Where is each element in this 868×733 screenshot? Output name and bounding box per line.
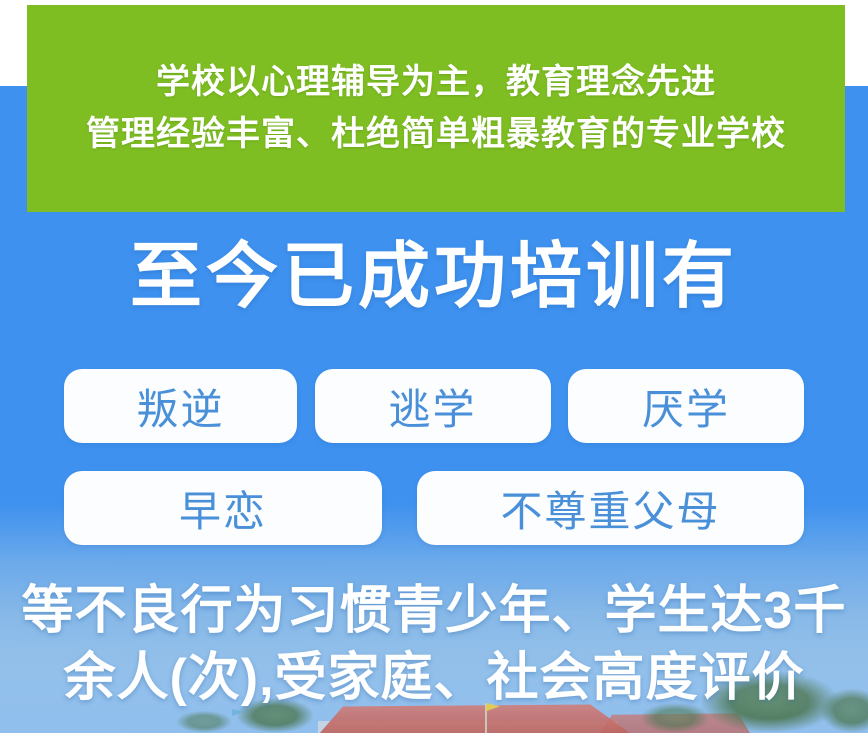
promo-poster: 学校以心理辅导为主，教育理念先进 管理经验丰富、杜绝简单粗暴教育的专业学校 至今… — [0, 0, 868, 733]
behavior-tag-row-2: 早恋 不尊重父母 — [64, 471, 804, 545]
banner-line-1: 学校以心理辅导为主，教育理念先进 — [156, 57, 716, 109]
summary-line-2: 余人(次),受家庭、社会高度评价 — [0, 645, 868, 712]
behavior-tag-disrespect-parents[interactable]: 不尊重父母 — [417, 471, 804, 545]
behavior-tag-rebellious[interactable]: 叛逆 — [64, 369, 297, 443]
summary-paragraph: 等不良行为习惯青少年、学生达3千 余人(次),受家庭、社会高度评价 — [0, 578, 868, 711]
behavior-tag-school-aversion[interactable]: 厌学 — [568, 369, 804, 443]
behavior-tag-row-1: 叛逆 逃学 厌学 — [64, 369, 804, 443]
green-headline-banner: 学校以心理辅导为主，教育理念先进 管理经验丰富、杜绝简单粗暴教育的专业学校 — [27, 5, 845, 212]
behavior-tag-truancy[interactable]: 逃学 — [315, 369, 551, 443]
behavior-tag-early-love[interactable]: 早恋 — [64, 471, 382, 545]
summary-line-1: 等不良行为习惯青少年、学生达3千 — [0, 578, 868, 645]
page-title: 至今已成功培训有 — [0, 240, 868, 316]
banner-line-2: 管理经验丰富、杜绝简单粗暴教育的专业学校 — [86, 109, 786, 161]
